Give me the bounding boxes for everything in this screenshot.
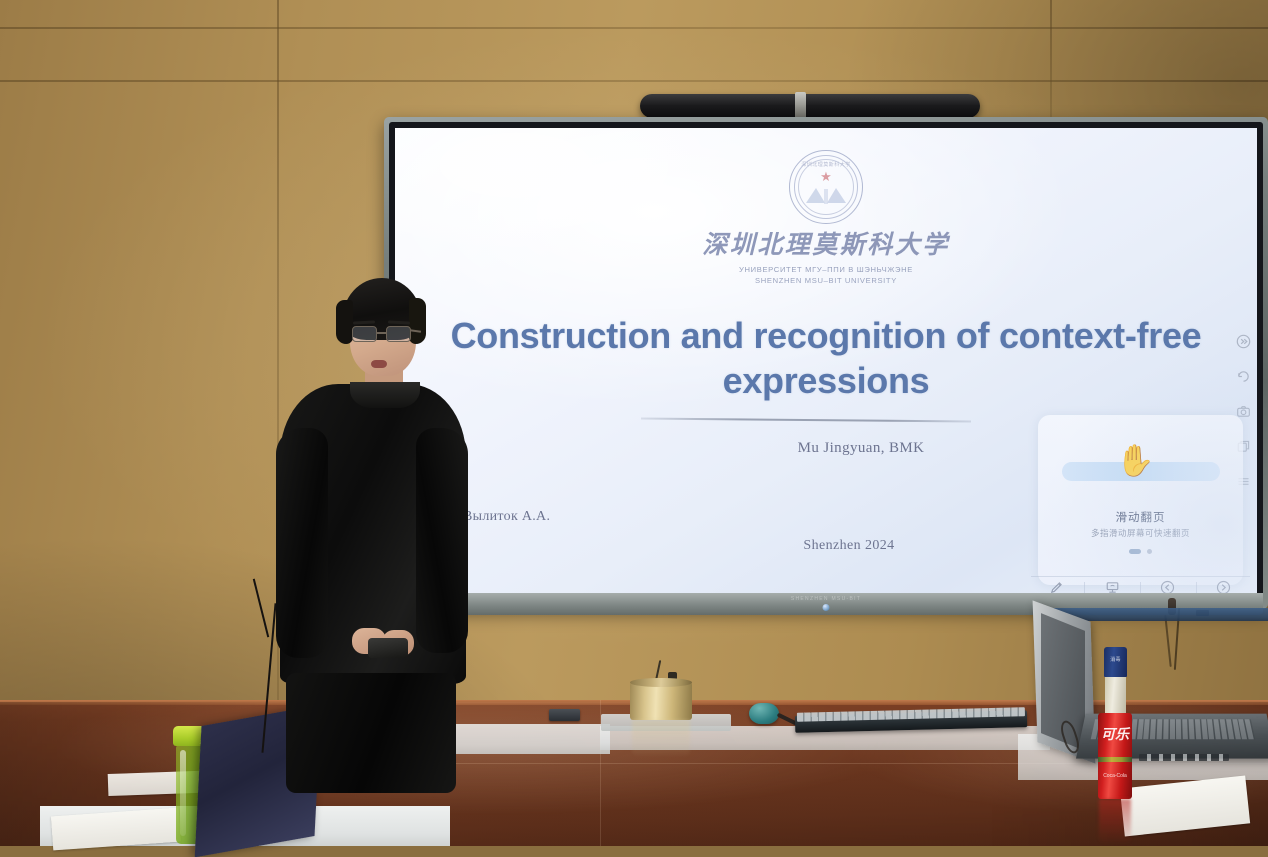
university-name-en: SHENZHEN MSU–BIT UNIVERSITY bbox=[696, 276, 956, 285]
can-body bbox=[1098, 713, 1132, 799]
glasses-lens bbox=[352, 326, 377, 342]
brass-cylinder-cup[interactable] bbox=[630, 678, 692, 720]
glasses-lens bbox=[386, 326, 411, 342]
glasses-temple bbox=[410, 329, 421, 332]
undo-icon[interactable] bbox=[1235, 368, 1251, 384]
right-arm bbox=[416, 428, 468, 653]
presentation-clicker[interactable] bbox=[368, 638, 408, 658]
crest-book-icon bbox=[804, 183, 848, 207]
slide-title: Construction and recognition of context-… bbox=[435, 313, 1217, 403]
presenter-speaking bbox=[258, 278, 468, 788]
collapse-chevron-icon[interactable] bbox=[1235, 333, 1251, 349]
glasses-bridge bbox=[377, 332, 387, 334]
cup-rim bbox=[630, 678, 692, 687]
conference-room-scene: 深圳北理莫斯科大学 ★ 深圳北理莫斯科大学 УНИВЕРСИТЕТ МГУ–ПП… bbox=[0, 0, 1268, 846]
hint-pager-dots[interactable] bbox=[1038, 549, 1243, 554]
pager-dot[interactable] bbox=[1147, 549, 1152, 554]
soundbar bbox=[640, 94, 980, 118]
display-brandmark: SHENZHEN MSU-BIT bbox=[791, 596, 861, 602]
display-bezel: 深圳北理莫斯科大学 ★ 深圳北理莫斯科大学 УНИВЕРСИТЕТ МГУ–ПП… bbox=[384, 117, 1268, 609]
spray-label: 消毒 bbox=[1104, 656, 1127, 663]
next-page-button[interactable]: 下一页 bbox=[1200, 580, 1248, 594]
spray-body bbox=[1105, 676, 1126, 717]
previous-page-icon bbox=[1160, 580, 1176, 594]
university-crest-icon: 深圳北理莫斯科大学 ★ bbox=[789, 150, 863, 224]
can-brand-label: 可乐 bbox=[1098, 729, 1132, 743]
hint-subtitle: 多指滑动屏幕可快速翻页 bbox=[1038, 527, 1243, 539]
hint-title: 滑动翻页 bbox=[1038, 509, 1243, 525]
previous-page-button[interactable]: 上一页 bbox=[1144, 580, 1192, 594]
crest-ring-text: 深圳北理莫斯科大学 bbox=[789, 161, 863, 168]
title-divider bbox=[641, 418, 971, 423]
interactive-display[interactable]: 深圳北理莫斯科大学 ★ 深圳北理莫斯科大学 УНИВЕРСИТЕТ МГУ–ПП… bbox=[384, 117, 1268, 612]
wireless-cast-button[interactable]: 无线投屏 bbox=[1089, 580, 1137, 594]
left-arm bbox=[276, 428, 328, 658]
university-logo: 深圳北理莫斯科大学 ★ 深圳北理莫斯科大学 УНИВЕРСИТЕТ МГУ–ПП… bbox=[696, 150, 956, 285]
desk-front-panel bbox=[430, 724, 610, 754]
next-page-icon bbox=[1216, 580, 1232, 594]
pager-dot-active[interactable] bbox=[1129, 549, 1141, 554]
cup-body bbox=[630, 682, 692, 720]
hand-icon: ✋ bbox=[1116, 445, 1155, 476]
camera-icon bbox=[795, 92, 806, 119]
wireless-cast-icon bbox=[1105, 580, 1121, 594]
can-band bbox=[1098, 757, 1132, 762]
power-led bbox=[823, 604, 830, 611]
cup-reflection bbox=[632, 720, 690, 756]
annotate-button[interactable]: 批注 bbox=[1033, 580, 1081, 594]
slide-supervisor: : Вылиток А.А. bbox=[455, 509, 550, 525]
os-bottom-toolbar[interactable]: 批注 无线投屏 bbox=[1031, 576, 1250, 594]
can-reflection bbox=[1099, 799, 1131, 843]
university-name-cn: 深圳北理莫斯科大学 bbox=[696, 225, 956, 261]
annotate-pencil-icon bbox=[1049, 580, 1065, 594]
laptop-ports bbox=[1139, 754, 1229, 761]
cola-can[interactable]: 可乐 Coca-Cola bbox=[1098, 713, 1132, 799]
spray-bottle[interactable]: 消毒 bbox=[1104, 647, 1127, 717]
can-sub-label: Coca-Cola bbox=[1098, 773, 1132, 779]
crest-star-icon: ★ bbox=[820, 170, 832, 183]
presentation-slide[interactable]: 深圳北理莫斯科大学 ★ 深圳北理莫斯科大学 УНИВЕРСИТЕТ МГУ–ПП… bbox=[395, 128, 1257, 594]
shirt-collar bbox=[350, 382, 420, 408]
bottle-highlight bbox=[180, 750, 186, 836]
mouth bbox=[371, 360, 387, 368]
teal-mouse[interactable] bbox=[749, 703, 779, 724]
glasses-icon bbox=[350, 326, 420, 342]
smartphone[interactable] bbox=[549, 709, 580, 721]
swipe-hint-card[interactable]: ✋ 滑动翻页 多指滑动屏幕可快速翻页 bbox=[1038, 415, 1243, 585]
lower-body bbox=[286, 673, 456, 793]
university-name-ru: УНИВЕРСИТЕТ МГУ–ППИ В ШЭНЬЧЖЭНЕ bbox=[696, 265, 956, 274]
